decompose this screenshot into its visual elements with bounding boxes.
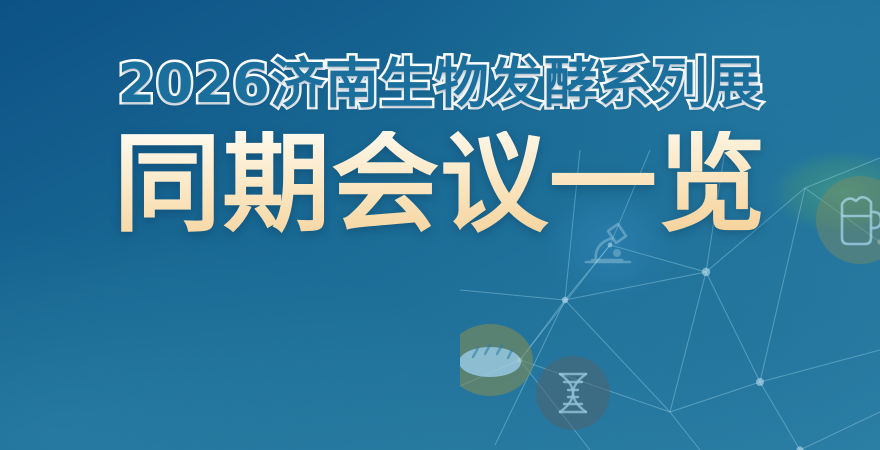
headline-block: 2026济南生物发酵系列展 同期会议一览 xyxy=(0,56,880,239)
conference-banner: 2026济南生物发酵系列展 同期会议一览 xyxy=(0,0,880,450)
banner-title: 同期会议一览 xyxy=(0,131,880,239)
banner-subtitle: 2026济南生物发酵系列展 xyxy=(0,56,880,112)
